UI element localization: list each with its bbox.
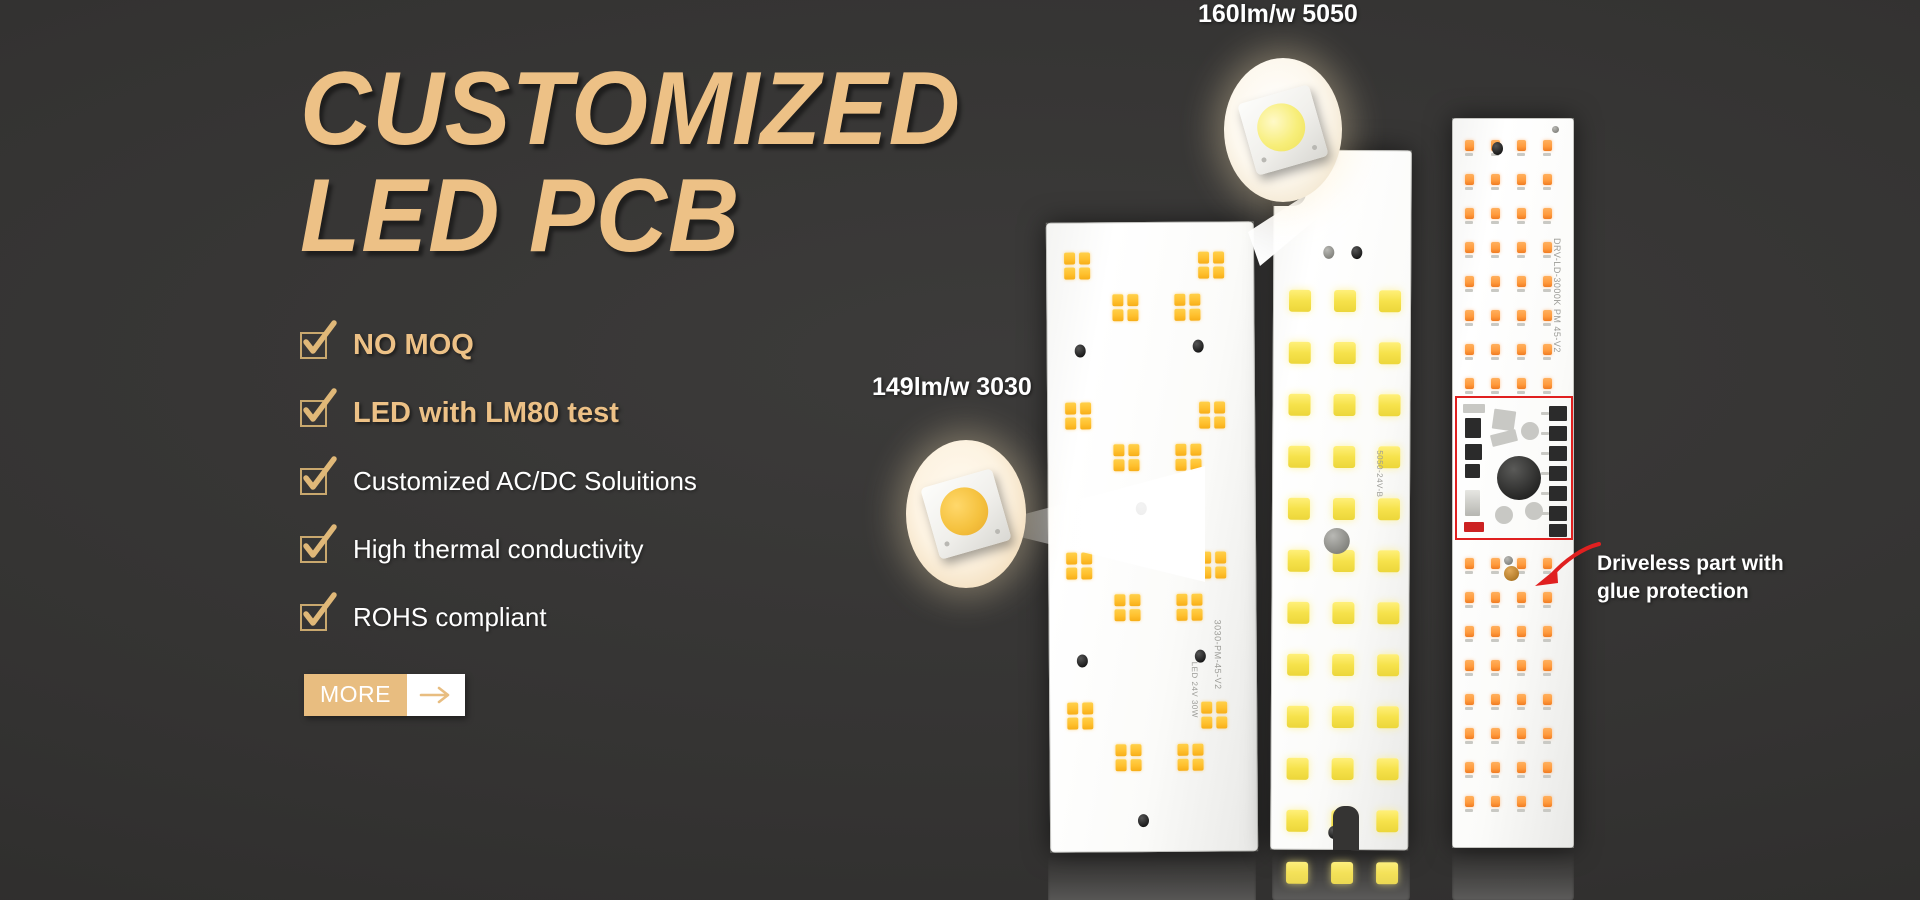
- led-chip: [1189, 309, 1200, 321]
- led-chip: [1067, 718, 1078, 730]
- feature-item: Customized AC/DC Soluitions: [300, 448, 1060, 516]
- feature-item-label: Customized AC/DC Soluitions: [353, 466, 697, 497]
- led-pad: [1543, 153, 1551, 156]
- led-pad: [1543, 357, 1551, 360]
- led-chip: [1201, 702, 1212, 714]
- led-pad: [1491, 187, 1499, 190]
- led-pad: [1465, 255, 1473, 258]
- led-chip: [1377, 706, 1399, 728]
- led-chip: [1491, 310, 1500, 321]
- magnifier-bubble-5050: [1224, 58, 1342, 202]
- led-chip: [1128, 444, 1139, 456]
- led-chip: [1465, 310, 1474, 321]
- led-chip: [1465, 728, 1474, 739]
- led-pad: [1465, 809, 1473, 812]
- led-chip: [1465, 762, 1474, 773]
- led-pad: [1491, 775, 1499, 778]
- led-chip: [1215, 566, 1226, 578]
- led-pad: [1465, 323, 1473, 326]
- checkbox-checked-icon: [300, 400, 327, 427]
- led-chip: [1517, 344, 1526, 355]
- led-pad: [1491, 809, 1499, 812]
- led-pad: [1465, 741, 1473, 744]
- led-pad: [1517, 809, 1525, 812]
- led-chip: [1214, 401, 1225, 413]
- led-chip: [1288, 446, 1310, 468]
- led-chip: [1491, 626, 1500, 637]
- led-chip: [1067, 703, 1078, 715]
- led-pad: [1543, 391, 1551, 394]
- led-chip: [1198, 252, 1209, 264]
- led-chip: [1216, 716, 1227, 728]
- headline-line-2: LED PCB: [300, 165, 1022, 268]
- led-pad: [1517, 289, 1525, 292]
- led-chip: [1082, 702, 1093, 714]
- led-pad: [1491, 255, 1499, 258]
- led-pad: [1465, 571, 1473, 574]
- led-pad: [1491, 357, 1499, 360]
- led-chip: [1491, 762, 1500, 773]
- led-pad: [1465, 775, 1473, 778]
- checkbox-checked-icon: [300, 468, 327, 495]
- led-chip: [1465, 140, 1474, 151]
- led-chip: [1079, 252, 1090, 264]
- arrow-right-icon: [407, 674, 465, 716]
- led-chip: [1465, 660, 1474, 671]
- feature-item: High thermal conductivity: [300, 516, 1060, 584]
- led-chip: [1064, 253, 1075, 265]
- led-chip: [1491, 276, 1500, 287]
- led-chip: [1465, 208, 1474, 219]
- led-pad: [1517, 775, 1525, 778]
- led-chip: [1287, 706, 1309, 728]
- led-pad: [1543, 323, 1551, 326]
- led-chip: [1517, 310, 1526, 321]
- arrow-left-red-icon: [1525, 538, 1605, 598]
- board1-reflection: [1048, 853, 1256, 900]
- led-chip: [1082, 717, 1093, 729]
- led-chip: [1543, 208, 1552, 219]
- checkbox-checked-icon: [300, 332, 327, 359]
- led-chip: [1289, 342, 1311, 364]
- callout-label-3030: 149lm/w 3030: [872, 373, 1032, 402]
- led-pad: [1517, 741, 1525, 744]
- led-chip: [1081, 567, 1092, 579]
- led-chip: [1543, 140, 1552, 151]
- driver-annotation: Driveless part with glue protection: [1597, 550, 1784, 607]
- led-chip: [1333, 394, 1355, 416]
- led-pad: [1491, 571, 1499, 574]
- led-pad: [1491, 289, 1499, 292]
- feature-item-label: High thermal conductivity: [353, 534, 643, 565]
- led-chip: [1113, 444, 1124, 456]
- led-chip: [1201, 717, 1212, 729]
- led-chip: [1066, 553, 1077, 565]
- led-chip: [1517, 174, 1526, 185]
- led-chip: [1491, 378, 1500, 389]
- led-chip: [1543, 660, 1552, 671]
- led-pad: [1491, 639, 1499, 642]
- feature-item-label: ROHS compliant: [353, 602, 547, 633]
- led-pad: [1491, 605, 1499, 608]
- led-chip: [1177, 609, 1188, 621]
- led-chip: [1517, 762, 1526, 773]
- led-pad: [1491, 323, 1499, 326]
- led-chip: [1200, 567, 1211, 579]
- led-chip: [1287, 654, 1309, 676]
- led-chip: [1193, 759, 1204, 771]
- led-pad: [1465, 391, 1473, 394]
- led-pad: [1465, 153, 1473, 156]
- page-title: CUSTOMIZED LED PCB: [300, 58, 1022, 268]
- led-chip: [1113, 459, 1124, 471]
- driver-zone-highlight: [1455, 396, 1573, 540]
- led-chip: [1333, 498, 1355, 520]
- led-chip: [1543, 694, 1552, 705]
- led-chip: [1216, 701, 1227, 713]
- led-pad: [1543, 605, 1551, 608]
- led-pad: [1517, 153, 1525, 156]
- led-chip: [1213, 251, 1224, 263]
- led-chip: [1491, 694, 1500, 705]
- led-chip: [1517, 242, 1526, 253]
- led-pad: [1517, 221, 1525, 224]
- led-chip: [1178, 759, 1189, 771]
- led-chip: [1491, 592, 1500, 603]
- led-chip: [1176, 594, 1187, 606]
- led-pad: [1517, 673, 1525, 676]
- led-chip: [1127, 309, 1138, 321]
- led-chip: [1288, 394, 1310, 416]
- led-chip: [1491, 796, 1500, 807]
- led-chip: [1377, 758, 1399, 780]
- pcb-board-3030: 3030-PM-45-V2 LED 24V 30W: [1046, 221, 1258, 852]
- led-pad: [1517, 357, 1525, 360]
- led-chip: [1465, 276, 1474, 287]
- led-chip: [1287, 758, 1309, 780]
- led-pad: [1491, 741, 1499, 744]
- led-chip: [1289, 290, 1311, 312]
- led-chip: [1376, 810, 1398, 832]
- led-chip: [1079, 267, 1090, 279]
- led-chip: [1130, 609, 1141, 621]
- led-chip: [1066, 568, 1077, 580]
- led-chip: [1465, 344, 1474, 355]
- led-chip: [1192, 609, 1203, 621]
- led-chip: [1517, 660, 1526, 671]
- led-chip: [1112, 309, 1123, 321]
- headline-line-1: CUSTOMIZED: [300, 51, 961, 167]
- led-chip: [1517, 276, 1526, 287]
- led-chip: [1465, 694, 1474, 705]
- led-pad: [1543, 289, 1551, 292]
- led-chip: [1080, 402, 1091, 414]
- led-chip: [1127, 294, 1138, 306]
- led-chip: [1081, 552, 1092, 564]
- led-pad: [1543, 741, 1551, 744]
- led-pad: [1517, 707, 1525, 710]
- led-chip: [1379, 290, 1401, 312]
- led-chip: [1199, 402, 1210, 414]
- led-pad: [1543, 255, 1551, 258]
- feature-item-label: NO MOQ: [353, 329, 474, 362]
- led-pad: [1491, 707, 1499, 710]
- led-chip: [1491, 208, 1500, 219]
- led-chip: [1491, 660, 1500, 671]
- led-pad: [1543, 707, 1551, 710]
- led-chip: [1130, 744, 1141, 756]
- driver-annotation-line1: Driveless part with: [1597, 550, 1784, 578]
- led-chip: [1543, 796, 1552, 807]
- led-pad: [1517, 639, 1525, 642]
- led-pad: [1517, 255, 1525, 258]
- led-chip: [1128, 459, 1139, 471]
- led-pad: [1517, 323, 1525, 326]
- led-chip: [1213, 266, 1224, 278]
- led-chip: [1543, 310, 1552, 321]
- led-chip: [1491, 174, 1500, 185]
- led-chip: [1543, 762, 1552, 773]
- led-chip: [1214, 416, 1225, 428]
- feature-item-label: LED with LM80 test: [353, 397, 619, 430]
- led-chip: [1174, 294, 1185, 306]
- led-chip: [1491, 242, 1500, 253]
- led-pad: [1465, 221, 1473, 224]
- led-chip: [1543, 626, 1552, 637]
- led-pad: [1465, 187, 1473, 190]
- led-chip: [1189, 294, 1200, 306]
- led-pad: [1465, 639, 1473, 642]
- led-chip: [1175, 459, 1186, 471]
- led-chip: [1377, 654, 1399, 676]
- led-pad: [1517, 187, 1525, 190]
- feature-item: NO MOQ: [300, 312, 1060, 380]
- board3-reflection: [1452, 849, 1574, 900]
- led-chip: [1517, 728, 1526, 739]
- led-chip: [1378, 498, 1400, 520]
- led-pad: [1543, 673, 1551, 676]
- led-chip: [1491, 344, 1500, 355]
- led-pad: [1491, 391, 1499, 394]
- led-chip: [1517, 378, 1526, 389]
- feature-list: NO MOQLED with LM80 testCustomized AC/DC…: [300, 312, 1060, 652]
- driver-annotation-line2: glue protection: [1597, 578, 1784, 606]
- led-pad: [1543, 221, 1551, 224]
- led-chip: [1378, 550, 1400, 572]
- led-chip: [1543, 344, 1552, 355]
- led-chip: [1491, 558, 1500, 569]
- led-chip: [1115, 744, 1126, 756]
- led-chip: [1543, 378, 1552, 389]
- led-chip: [1334, 290, 1356, 312]
- led-chip: [1543, 276, 1552, 287]
- led-chip: [1334, 342, 1356, 364]
- led-chip: [1215, 551, 1226, 563]
- led-chip: [1199, 417, 1210, 429]
- led-chip: [1332, 654, 1354, 676]
- led-chip: [1174, 309, 1185, 321]
- pcb-board-5050: 5050-24V-B: [1270, 150, 1412, 851]
- led-chip: [1377, 602, 1399, 624]
- led-chip: [1333, 446, 1355, 468]
- feature-item: ROHS compliant: [300, 584, 1060, 652]
- led-chip: [1191, 594, 1202, 606]
- led-chip: [1192, 744, 1203, 756]
- led-chip: [1177, 744, 1188, 756]
- board2-notch-bottom: [1333, 806, 1359, 850]
- led-chip: [1465, 558, 1474, 569]
- led-pad: [1465, 289, 1473, 292]
- led-chip: [1288, 498, 1310, 520]
- led-pad: [1491, 221, 1499, 224]
- led-pad: [1543, 775, 1551, 778]
- led-chip: [1198, 267, 1209, 279]
- led-chip: [1517, 208, 1526, 219]
- led-pcb-banner: 3030-PM-45-V2 LED 24V 30W 5050-24V-B DRV…: [0, 0, 1920, 900]
- led-chip: [1517, 626, 1526, 637]
- led-pad: [1465, 605, 1473, 608]
- led-chip: [1517, 140, 1526, 151]
- led-chip: [1190, 459, 1201, 471]
- led-pad: [1543, 809, 1551, 812]
- led-chip: [1064, 268, 1075, 280]
- led-chip: [1332, 758, 1354, 780]
- checkbox-checked-icon: [300, 536, 327, 563]
- checkbox-checked-icon: [300, 604, 327, 631]
- board2-reflection: [1272, 851, 1410, 900]
- led-chip: [1517, 796, 1526, 807]
- led-chip: [1465, 796, 1474, 807]
- board3-silkscreen: DRV-LD-3000K PM 45-V2: [1552, 238, 1562, 353]
- led-pad: [1491, 673, 1499, 676]
- callout-label-5050: 160lm/w 5050: [1198, 0, 1358, 29]
- led-chip: [1491, 728, 1500, 739]
- led-chip: [1129, 594, 1140, 606]
- led-pad: [1465, 357, 1473, 360]
- led-chip: [1379, 342, 1401, 364]
- led-chip: [1465, 174, 1474, 185]
- led-chip: [1378, 394, 1400, 416]
- led-chip: [1112, 294, 1123, 306]
- led-chip: [1543, 174, 1552, 185]
- more-button[interactable]: MORE: [304, 674, 465, 716]
- led-chip: [1465, 592, 1474, 603]
- led-chip: [1065, 403, 1076, 415]
- led-chip: [1465, 242, 1474, 253]
- led-pad: [1543, 187, 1551, 190]
- led-chip: [1115, 609, 1126, 621]
- led-chip: [1080, 417, 1091, 429]
- led-pad: [1465, 673, 1473, 676]
- led-chip: [1543, 728, 1552, 739]
- led-chip: [1332, 602, 1354, 624]
- more-button-label: MORE: [304, 674, 407, 716]
- led-chip: [1465, 626, 1474, 637]
- led-chip: [1287, 602, 1309, 624]
- led-chip: [1175, 444, 1186, 456]
- led-chip: [1114, 594, 1125, 606]
- led-chip: [1131, 759, 1142, 771]
- led-pad: [1543, 639, 1551, 642]
- led-pad: [1517, 605, 1525, 608]
- led-chip-5050-icon: [1237, 84, 1329, 176]
- led-chip: [1517, 694, 1526, 705]
- led-chip: [1332, 706, 1354, 728]
- led-chip: [1288, 550, 1310, 572]
- led-chip: [1065, 418, 1076, 430]
- led-pad: [1465, 707, 1473, 710]
- board3-solder-point: [1504, 566, 1519, 581]
- led-chip: [1286, 810, 1308, 832]
- led-chip: [1543, 242, 1552, 253]
- led-pad: [1517, 391, 1525, 394]
- led-chip: [1465, 378, 1474, 389]
- led-chip: [1190, 444, 1201, 456]
- led-chip: [1116, 759, 1127, 771]
- led-chip: [1200, 552, 1211, 564]
